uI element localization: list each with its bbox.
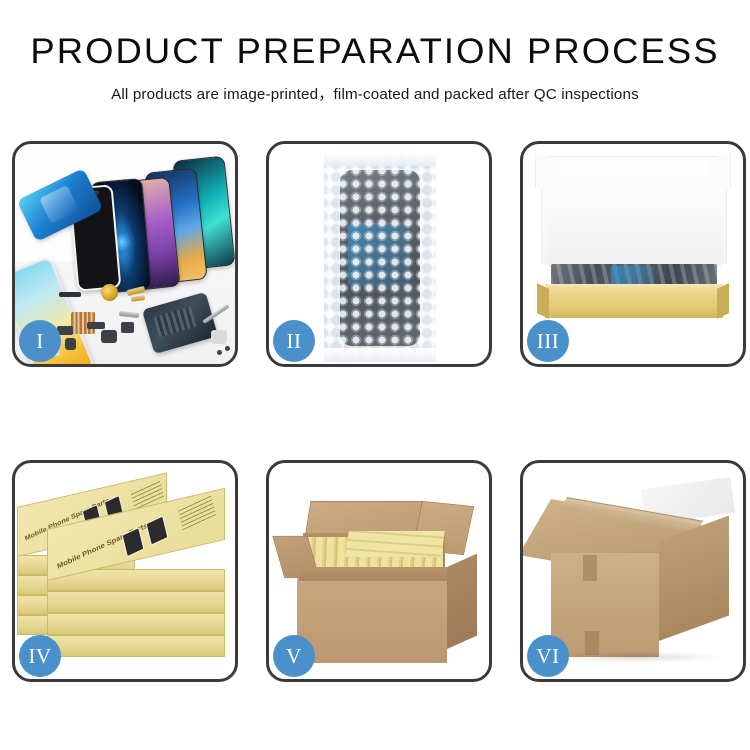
carton-side <box>447 554 477 649</box>
step-badge-4: IV <box>19 635 61 677</box>
product-preparation-infographic: PRODUCT PREPARATION PROCESS All products… <box>0 0 750 750</box>
screwdriver-tip-icon <box>211 330 227 344</box>
screw-icon <box>217 350 222 355</box>
step-panel-5: V <box>266 460 492 682</box>
bag-seal-top <box>324 152 436 166</box>
button-part-icon <box>121 322 134 333</box>
step-panel-4: Mobile Phone Spare Parts Mobile Phone Sp… <box>12 460 238 682</box>
steps-grid: I II <box>12 141 740 682</box>
bag-seal-bottom <box>324 348 436 362</box>
vibrator-icon <box>101 330 117 343</box>
screw-icon <box>225 346 230 351</box>
mailer-foam-lining <box>547 192 721 266</box>
carton-body <box>297 581 447 663</box>
page-title: PRODUCT PREPARATION PROCESS <box>0 34 750 71</box>
packed-retail-boxes <box>345 531 445 557</box>
page-subtitle: All products are image-printed，film-coat… <box>0 82 750 104</box>
step-badge-6: VI <box>527 635 569 677</box>
stacked-box <box>47 635 225 657</box>
bubble-wrap-bag <box>324 152 436 362</box>
header: PRODUCT PREPARATION PROCESS All products… <box>0 0 750 104</box>
carton-seam <box>583 555 597 581</box>
copper-coil-icon <box>101 284 118 301</box>
mailer-box-side-right <box>717 283 729 319</box>
spec-lines <box>178 495 216 531</box>
mailer-lid-flap-right <box>707 153 731 193</box>
speaker-part-icon <box>59 292 81 297</box>
flex-cable-icon <box>87 322 105 329</box>
mailer-box-side-left <box>537 283 549 319</box>
step-badge-2: II <box>273 320 315 362</box>
step-panel-6: VI <box>520 460 746 682</box>
phone-graphic-icon <box>146 515 169 545</box>
mailer-box-front <box>545 290 723 318</box>
carton-front <box>551 553 659 657</box>
mailer-lid-flap-left <box>535 153 559 193</box>
step-badge-3: III <box>527 320 569 362</box>
bubble-texture-icon <box>324 152 436 362</box>
step-panel-2: II <box>266 141 492 367</box>
step-panel-1: I <box>12 141 238 367</box>
drop-shadow <box>553 651 723 663</box>
stacked-box <box>47 613 225 635</box>
stacked-box <box>47 591 225 613</box>
step-panel-3: III <box>520 141 746 367</box>
camera-module-icon <box>65 338 76 350</box>
step-badge-1: I <box>19 320 61 362</box>
step-badge-5: V <box>273 635 315 677</box>
